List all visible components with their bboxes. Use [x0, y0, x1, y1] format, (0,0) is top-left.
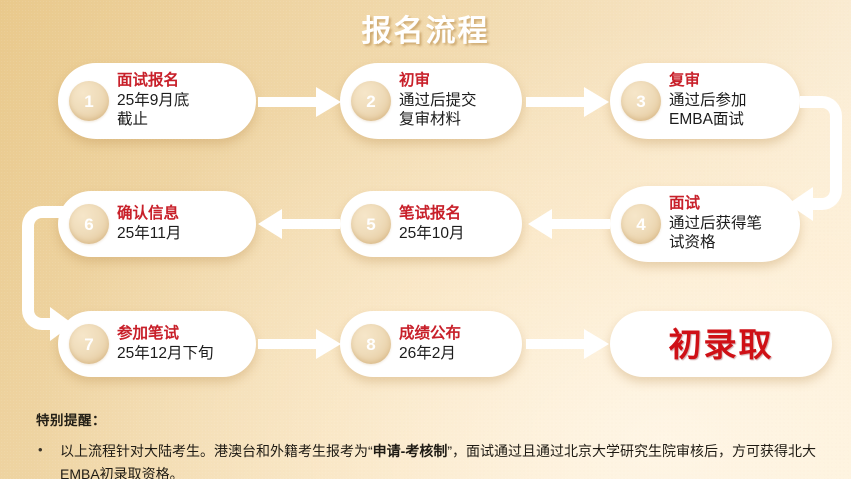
connector-step3-to-step4 [786, 96, 851, 232]
step-card-2[interactable]: 2 初审 通过后提交 复审材料 [340, 63, 522, 139]
step-title-6: 确认信息 [117, 205, 248, 224]
step-number-badge-8: 8 [351, 324, 391, 364]
step-number-badge-1: 1 [69, 81, 109, 121]
page-title: 报名流程 [0, 6, 851, 50]
step-title-1: 面试报名 [117, 72, 248, 91]
footnote-text-part-1: 以上流程针对大陆考生。港澳台和外籍考生报考为“ [60, 443, 373, 459]
step-title-5: 笔试报名 [399, 205, 514, 224]
step-body-6: 25年11月 [117, 224, 248, 244]
step-body-4: 通过后获得笔 试资格 [669, 214, 792, 254]
arrow-step7-to-step8 [258, 328, 342, 360]
step-text-2: 初审 通过后提交 复审材料 [399, 72, 522, 131]
step-number-badge-4: 4 [621, 204, 661, 244]
step-text-7: 参加笔试 25年12月下旬 [117, 325, 256, 364]
slide-canvas: 报名流程 1 面试报名 25年9月底 截止 2 初审 通过后提交 复审材料 3 … [0, 0, 851, 479]
step-card-6[interactable]: 6 确认信息 25年11月 [58, 191, 256, 257]
step-card-1[interactable]: 1 面试报名 25年9月底 截止 [58, 63, 256, 139]
footnote-bullet: • [36, 440, 60, 479]
step-text-5: 笔试报名 25年10月 [399, 205, 522, 244]
final-result-label: 初录取 [669, 328, 774, 361]
step-card-4[interactable]: 4 面试 通过后获得笔 试资格 [610, 186, 800, 262]
arrow-step4-to-step5 [528, 208, 610, 240]
step-title-7: 参加笔试 [117, 325, 248, 344]
arrow-step2-to-step3 [526, 86, 610, 118]
step-title-3: 复审 [669, 72, 792, 91]
step-text-4: 面试 通过后获得笔 试资格 [669, 195, 800, 254]
step-number-badge-6: 6 [69, 204, 109, 244]
step-body-3: 通过后参加 EMBA面试 [669, 91, 792, 131]
step-text-6: 确认信息 25年11月 [117, 205, 256, 244]
final-result-card[interactable]: 初录取 [610, 311, 832, 377]
step-number-badge-3: 3 [621, 81, 661, 121]
step-number-badge-7: 7 [69, 324, 109, 364]
step-text-3: 复审 通过后参加 EMBA面试 [669, 72, 800, 131]
footnote-text-emphasis: 申请-考核制 [373, 443, 448, 459]
step-card-8[interactable]: 8 成绩公布 26年2月 [340, 311, 522, 377]
arrow-step1-to-step2 [258, 86, 342, 118]
footnote-block: 特别提醒： • 以上流程针对大陆考生。港澳台和外籍考生报考为“申请-考核制”，面… [36, 409, 836, 479]
step-text-1: 面试报名 25年9月底 截止 [117, 72, 256, 131]
step-card-7[interactable]: 7 参加笔试 25年12月下旬 [58, 311, 256, 377]
step-body-2: 通过后提交 复审材料 [399, 91, 514, 131]
footnote-row: • 以上流程针对大陆考生。港澳台和外籍考生报考为“申请-考核制”，面试通过且通过… [36, 440, 836, 479]
step-card-3[interactable]: 3 复审 通过后参加 EMBA面试 [610, 63, 800, 139]
step-body-7: 25年12月下旬 [117, 344, 248, 364]
footnote-text: 以上流程针对大陆考生。港澳台和外籍考生报考为“申请-考核制”，面试通过且通过北京… [60, 440, 836, 479]
step-number-badge-5: 5 [351, 204, 391, 244]
step-title-2: 初审 [399, 72, 514, 91]
step-title-4: 面试 [669, 195, 792, 214]
step-body-1: 25年9月底 截止 [117, 91, 248, 131]
footnote-heading: 特别提醒： [36, 409, 836, 429]
step-body-5: 25年10月 [399, 224, 514, 244]
step-number-badge-2: 2 [351, 81, 391, 121]
step-text-8: 成绩公布 26年2月 [399, 325, 522, 364]
step-body-8: 26年2月 [399, 344, 514, 364]
arrow-step8-to-final [526, 328, 610, 360]
step-card-5[interactable]: 5 笔试报名 25年10月 [340, 191, 522, 257]
arrow-step5-to-step6 [258, 208, 340, 240]
connector-step6-to-step7 [12, 206, 74, 352]
step-title-8: 成绩公布 [399, 325, 514, 344]
